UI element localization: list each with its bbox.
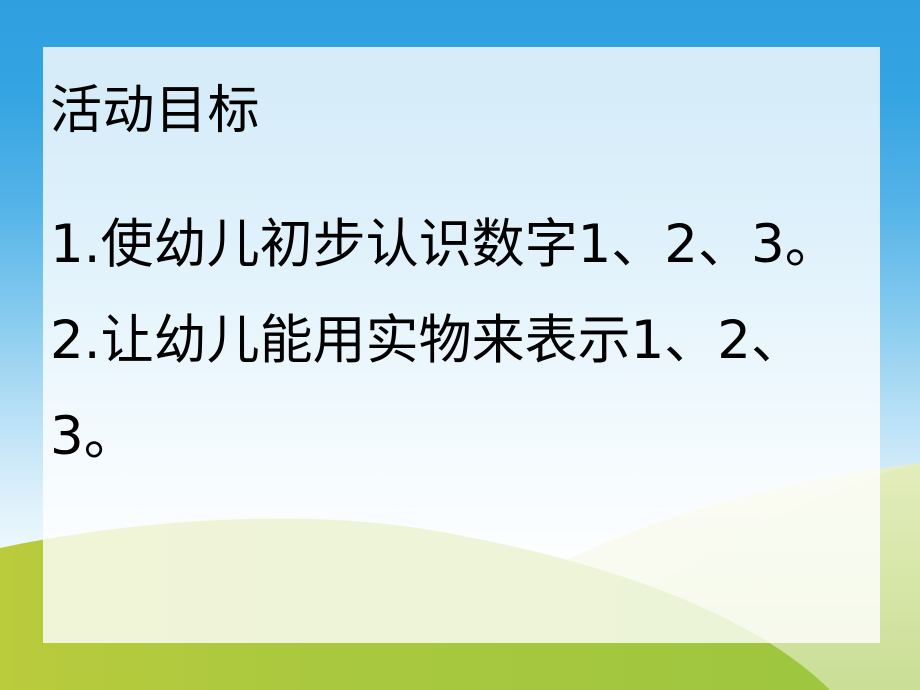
objectives-list: 1.使幼儿初步认识数字1、2、3。 2.让幼儿能用实物来表示1、2、 3。 — [50, 197, 872, 485]
objective-line: 2.让幼儿能用实物来表示1、2、 — [50, 293, 872, 389]
content-panel: 活动目标 1.使幼儿初步认识数字1、2、3。 2.让幼儿能用实物来表示1、2、 … — [43, 47, 880, 643]
page-title: 活动目标 — [50, 80, 260, 142]
slide: 活动目标 1.使幼儿初步认识数字1、2、3。 2.让幼儿能用实物来表示1、2、 … — [0, 0, 920, 690]
objective-line: 3。 — [50, 389, 872, 485]
objective-line: 1.使幼儿初步认识数字1、2、3。 — [50, 197, 872, 293]
content-panel-body: 活动目标 1.使幼儿初步认识数字1、2、3。 2.让幼儿能用实物来表示1、2、 … — [43, 47, 880, 643]
